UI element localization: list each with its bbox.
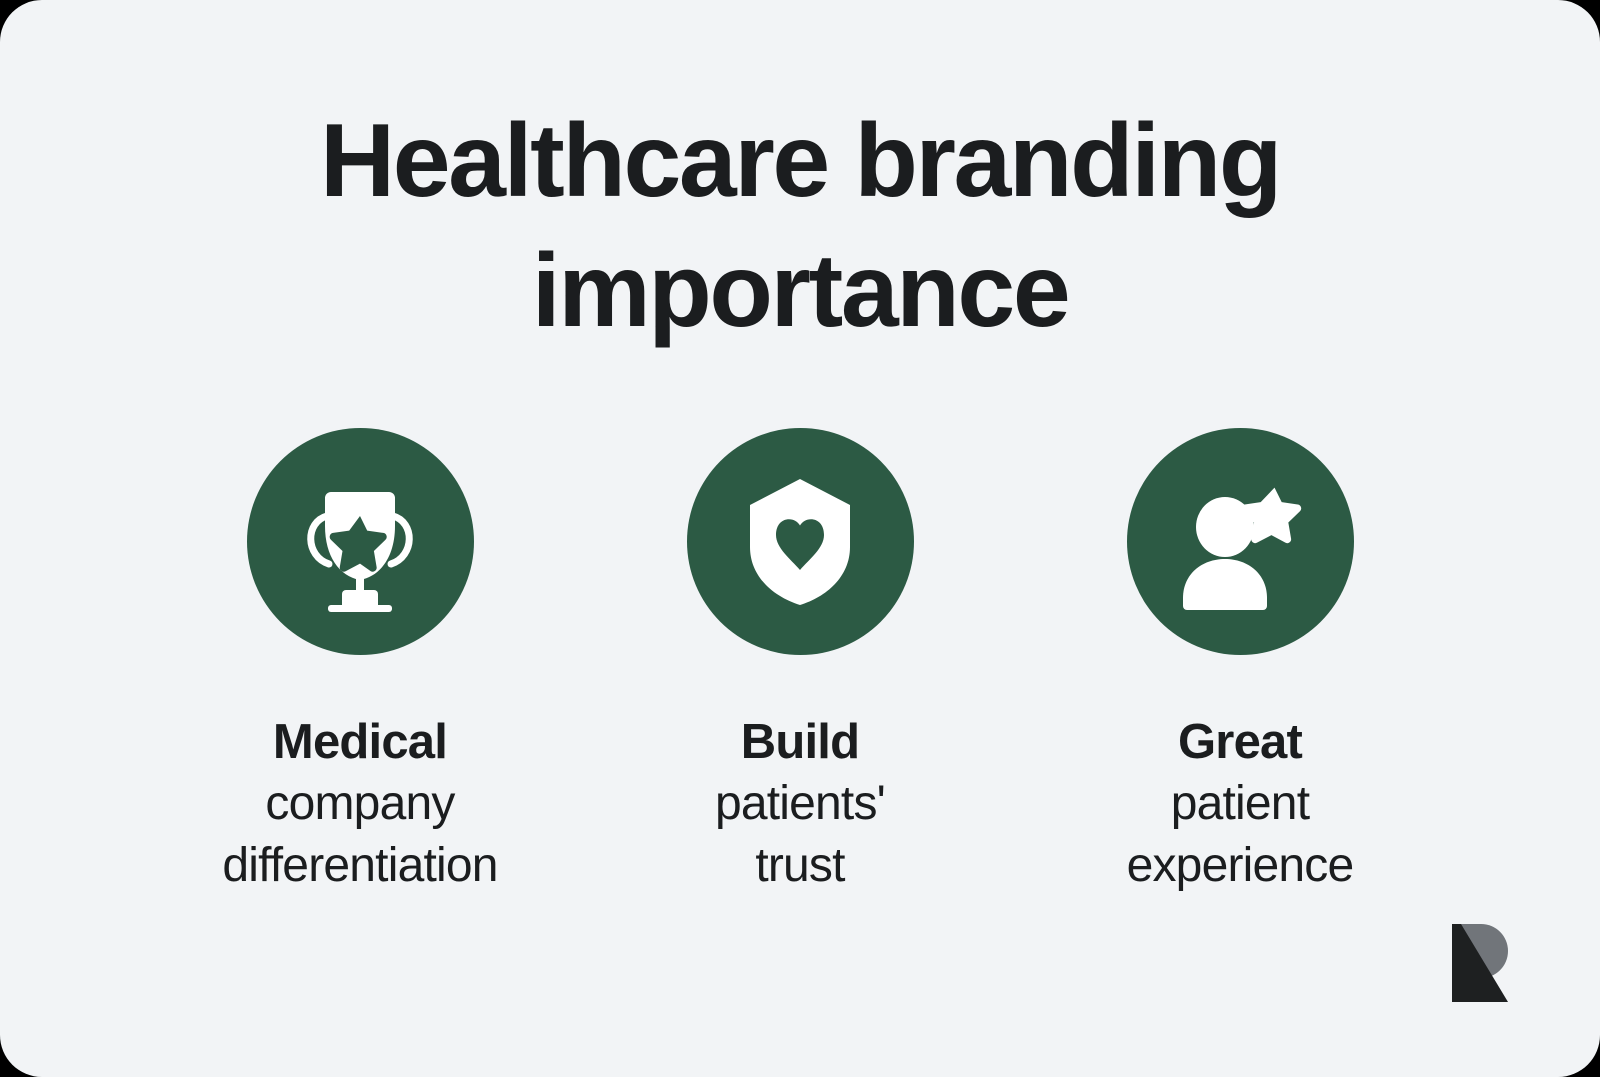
feature-caption-2: Build patients' trust [715,711,885,897]
feature-columns: Medical company differentiation Build pa… [155,428,1445,897]
caption-head-1: Medical [222,711,497,773]
infographic-card: Healthcare branding importance [0,0,1600,1077]
feature-column-2: Build patients' trust [595,428,1005,897]
feature-caption-3: Great patient experience [1127,711,1354,897]
person-star-icon [1170,472,1310,612]
icon-circle-2 [687,428,914,655]
caption-head-2: Build [715,711,885,773]
page-title: Healthcare branding importance [150,96,1450,356]
caption-body-3: patient experience [1127,773,1354,897]
feature-caption-1: Medical company differentiation [222,711,497,897]
feature-column-3: Great patient experience [1035,428,1445,897]
icon-circle-1 [247,428,474,655]
shield-heart-icon [740,473,860,611]
brand-logo [1448,922,1514,1004]
caption-body-2: patients' trust [715,773,885,897]
icon-circle-3 [1127,428,1354,655]
trophy-star-icon [295,472,425,612]
feature-column-1: Medical company differentiation [155,428,565,897]
caption-body-1: company differentiation [222,773,497,897]
caption-head-3: Great [1127,711,1354,773]
